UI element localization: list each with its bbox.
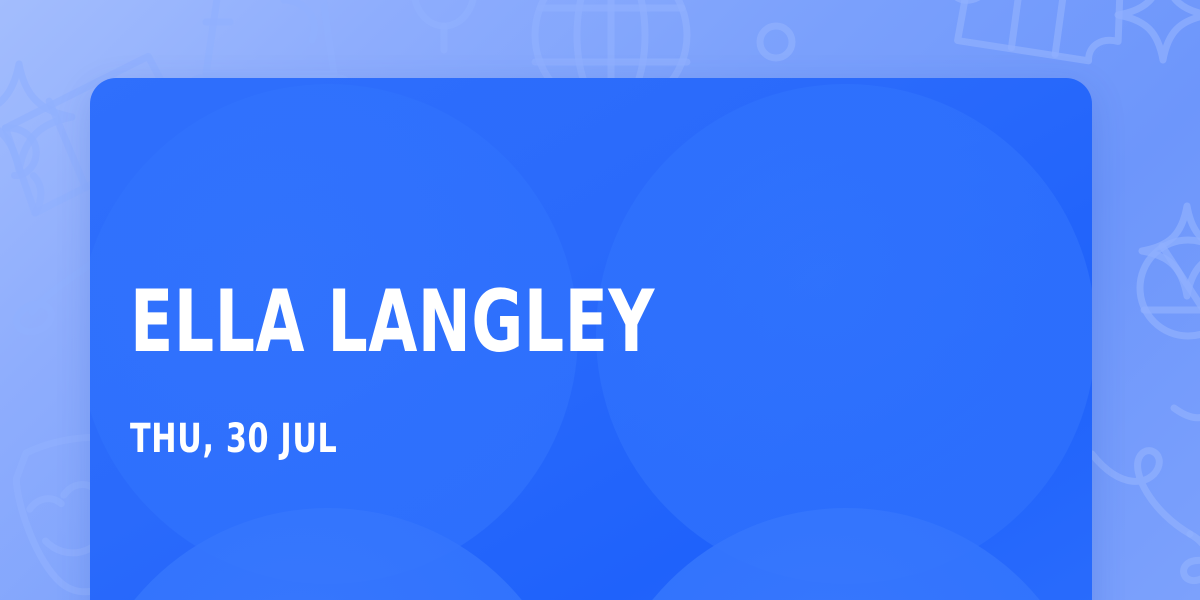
event-title: Ella Langley [130, 276, 655, 368]
sparkle-icon [0, 52, 84, 182]
event-banner: Ella Langley Thu, 30 Jul [0, 0, 1200, 600]
event-card[interactable]: Ella Langley Thu, 30 Jul [90, 78, 1092, 600]
card-content: Ella Langley Thu, 30 Jul [130, 78, 830, 600]
event-date: Thu, 30 Jul [130, 416, 337, 462]
confetti-swirl-icon [1086, 416, 1200, 600]
bubble-icon [746, 12, 806, 72]
sparkle-icon [1108, 0, 1200, 70]
balloon-icon [392, 0, 502, 66]
